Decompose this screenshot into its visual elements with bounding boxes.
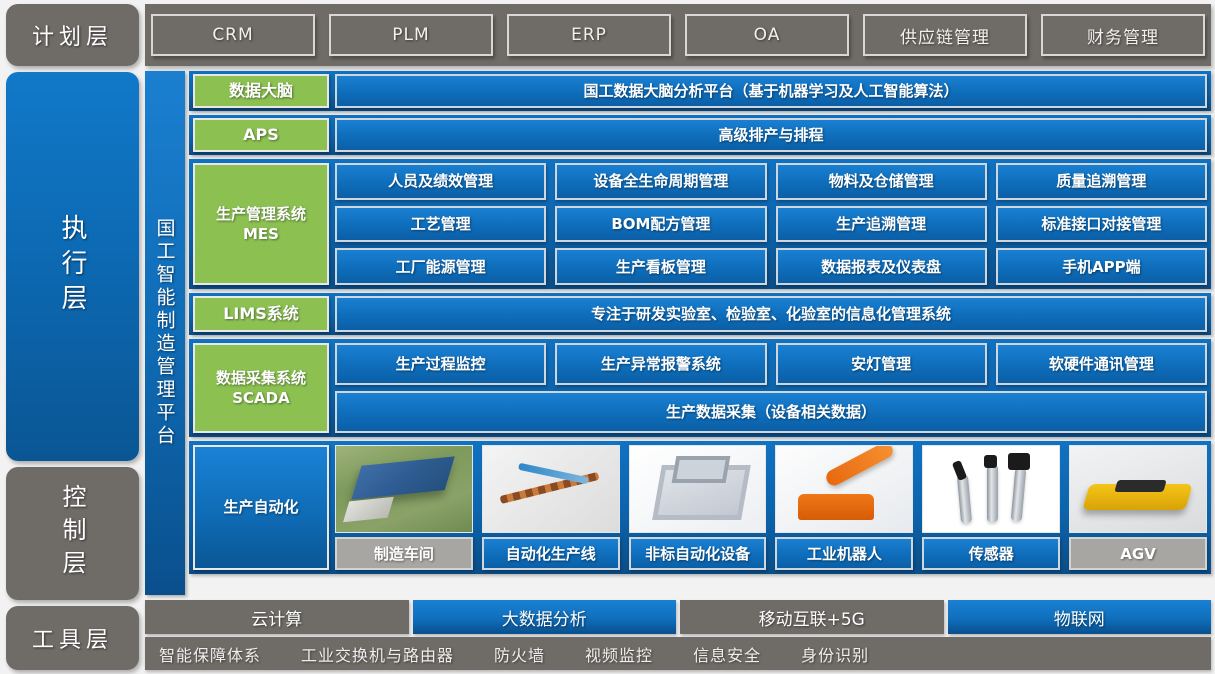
row-production-automation: 生产自动化 制造车间 自动化生产线 非标自动化 [189,441,1211,574]
scada-item-comm-management[interactable]: 软硬件通讯管理 [996,343,1207,385]
layer-label-tool[interactable]: 工具层 [6,606,139,670]
plan-item-label: 财务管理 [1087,23,1159,48]
caption-label: 传感器 [969,543,1014,564]
plan-item-oa[interactable]: OA [685,14,849,56]
tile-label: 生产自动化 [223,497,298,517]
tool-chip-row: 云计算 大数据分析 移动互联+5G 物联网 [145,600,1211,634]
footer-item-switch-router[interactable]: 工业交换机与路由器 [301,642,454,666]
plan-item-crm[interactable]: CRM [151,14,315,56]
button-label: 生产异常报警系统 [601,355,721,373]
tool-chip-iot[interactable]: 物联网 [948,600,1212,634]
card-caption: AGV [1069,537,1207,570]
thumbnail-industrial-robot [775,445,913,533]
thumbnail-workshop [335,445,473,533]
robot-arm-image [776,446,912,532]
tool-layer: 云计算 大数据分析 移动互联+5G 物联网 智能保障体系 工业交换机与路由器 防… [145,600,1211,670]
button-label: 物料及仓储管理 [829,172,934,190]
card-caption: 自动化生产线 [482,537,620,570]
conveyor-line-image [483,446,619,532]
plan-item-finance[interactable]: 财务管理 [1041,14,1205,56]
button-data-brain-platform[interactable]: 国工数据大脑分析平台（基于机器学习及人工智能算法） [335,74,1207,108]
platform-label: 国工智能制造管理平台 [145,71,185,595]
chip-label: 物联网 [1054,605,1105,630]
tile-mes[interactable]: 生产管理系统 MES [193,163,329,285]
tile-label: LIMS系统 [223,303,299,325]
button-lims-description[interactable]: 专注于研发实验室、检验室、化验室的信息化管理系统 [335,296,1207,332]
sensor-probes-image [923,446,1059,532]
layer-execution-text: 执行层 [54,214,91,319]
layer-label-plan[interactable]: 计划层 [6,4,139,66]
plan-item-label: OA [754,25,781,45]
plan-item-label: PLM [392,25,429,45]
tile-label-line1: 生产管理系统 [216,204,306,224]
row-mes: 生产管理系统 MES 人员及绩效管理 设备全生命周期管理 物料及仓储管理 质量追… [189,159,1211,289]
card-production-line[interactable]: 自动化生产线 [482,445,620,570]
mes-item-bom-recipe[interactable]: BOM配方管理 [555,206,766,243]
chip-label: 移动互联+5G [759,605,865,630]
button-label: 人员及绩效管理 [388,172,493,190]
tile-label-line1: 数据采集系统 [216,368,306,388]
tool-chip-mobile-5g[interactable]: 移动互联+5G [680,600,944,634]
tool-footer-row: 智能保障体系 工业交换机与路由器 防火墙 视频监控 信息安全 身份识别 [145,637,1211,670]
button-label: 工厂能源管理 [396,258,486,276]
row-scada: 数据采集系统 SCADA 生产过程监控 生产异常报警系统 安灯管理 软硬件通讯管… [189,339,1211,437]
tile-label: 数据大脑 [229,80,293,102]
platform-band: 国工智能制造管理平台 数据大脑 国工数据大脑分析平台（基于机器学习及人工智能算法… [145,71,1211,595]
button-label: BOM配方管理 [611,215,710,233]
layer-plan-text: 计划层 [32,19,113,51]
scada-row: 生产数据采集（设备相关数据） [335,391,1207,433]
footer-item-smart-assurance[interactable]: 智能保障体系 [159,642,261,666]
thumbnail-agv [1069,445,1207,533]
caption-label: AGV [1120,545,1156,563]
scada-item-data-acquisition[interactable]: 生产数据采集（设备相关数据） [335,391,1207,433]
tile-label-line2: SCADA [232,388,289,408]
card-workshop[interactable]: 制造车间 [335,445,473,570]
agv-vehicle-image [1070,446,1206,532]
main-column: CRM PLM ERP OA 供应链管理 财务管理 国工智能制造管理平台 数据大… [145,4,1211,670]
row-data-brain: 数据大脑 国工数据大脑分析平台（基于机器学习及人工智能算法） [189,71,1211,111]
mes-item-production-trace[interactable]: 生产追溯管理 [776,206,987,243]
footer-item-identity-recognition[interactable]: 身份识别 [801,642,869,666]
chip-label: 云计算 [251,605,302,630]
layer-label-execution[interactable]: 执行层 [6,72,139,461]
mes-item-data-report-dashboard[interactable]: 数据报表及仪表盘 [776,248,987,285]
plan-item-erp[interactable]: ERP [507,14,671,56]
factory-aerial-image [336,446,472,532]
layer-control-text: 控制层 [55,484,90,583]
mes-item-quality-trace[interactable]: 质量追溯管理 [996,163,1207,200]
tile-production-automation[interactable]: 生产自动化 [193,445,329,570]
button-label: 手机APP端 [1062,258,1141,276]
caption-label: 自动化生产线 [506,543,596,564]
mes-item-equipment-lifecycle[interactable]: 设备全生命周期管理 [555,163,766,200]
tile-lims[interactable]: LIMS系统 [193,296,329,332]
thumbnail-custom-equipment [629,445,767,533]
button-label: 设备全生命周期管理 [593,172,728,190]
caption-label: 非标自动化设备 [645,543,750,564]
button-aps-scheduling[interactable]: 高级排产与排程 [335,118,1207,152]
caption-label: 工业机器人 [807,543,882,564]
button-label: 软硬件通讯管理 [1049,355,1154,373]
mes-row: 工艺管理 BOM配方管理 生产追溯管理 标准接口对接管理 [335,206,1207,243]
platform-label-text: 国工智能制造管理平台 [152,218,179,448]
mes-item-mobile-app[interactable]: 手机APP端 [996,248,1207,285]
button-label: 专注于研发实验室、检验室、化验室的信息化管理系统 [591,305,951,323]
row-lims: LIMS系统 专注于研发实验室、检验室、化验室的信息化管理系统 [189,293,1211,335]
automation-cards: 制造车间 自动化生产线 非标自动化设备 工业机器人 [335,445,1207,570]
caption-label: 制造车间 [374,543,434,564]
button-label: 生产追溯管理 [836,215,926,233]
layer-column: 计划层 执行层 控制层 工具层 [6,4,139,670]
mes-item-personnel-performance[interactable]: 人员及绩效管理 [335,163,546,200]
tile-scada[interactable]: 数据采集系统 SCADA [193,343,329,433]
content-stack: 数据大脑 国工数据大脑分析平台（基于机器学习及人工智能算法） APS 高级排产与… [189,71,1211,595]
row-aps: APS 高级排产与排程 [189,115,1211,155]
plan-item-label: CRM [212,25,253,45]
mes-item-production-board[interactable]: 生产看板管理 [555,248,766,285]
button-label: 生产过程监控 [396,355,486,373]
mes-grid: 人员及绩效管理 设备全生命周期管理 物料及仓储管理 质量追溯管理 工艺管理 BO… [335,163,1207,285]
mes-item-standard-interface[interactable]: 标准接口对接管理 [996,206,1207,243]
thumbnail-sensor [922,445,1060,533]
button-label: 数据报表及仪表盘 [821,258,941,276]
mes-item-material-warehouse[interactable]: 物料及仓储管理 [776,163,987,200]
card-industrial-robot[interactable]: 工业机器人 [775,445,913,570]
card-sensor[interactable]: 传感器 [922,445,1060,570]
footer-item-video-surveillance[interactable]: 视频监控 [585,642,653,666]
scada-item-andon[interactable]: 安灯管理 [776,343,987,385]
footer-item-firewall[interactable]: 防火墙 [494,642,545,666]
card-caption: 制造车间 [335,537,473,570]
planning-bar: CRM PLM ERP OA 供应链管理 财务管理 [145,4,1211,66]
tile-label-line2: MES [243,224,279,244]
mes-item-process-management[interactable]: 工艺管理 [335,206,546,243]
mes-row: 人员及绩效管理 设备全生命周期管理 物料及仓储管理 质量追溯管理 [335,163,1207,200]
mes-row: 工厂能源管理 生产看板管理 数据报表及仪表盘 手机APP端 [335,248,1207,285]
button-label: 国工数据大脑分析平台（基于机器学习及人工智能算法） [583,82,958,100]
layer-tool-text: 工具层 [32,622,113,654]
footer-item-information-security[interactable]: 信息安全 [693,642,761,666]
scada-row: 生产过程监控 生产异常报警系统 安灯管理 软硬件通讯管理 [335,343,1207,385]
button-label: 工艺管理 [411,215,471,233]
tool-chip-cloud-computing[interactable]: 云计算 [145,600,409,634]
tool-chip-big-data[interactable]: 大数据分析 [413,600,677,634]
scada-grid: 生产过程监控 生产异常报警系统 安灯管理 软硬件通讯管理 生产数据采集（设备相关… [335,343,1207,433]
button-label: 安灯管理 [851,355,911,373]
plan-item-supply-chain[interactable]: 供应链管理 [863,14,1027,56]
plan-item-label: ERP [571,25,607,45]
layer-label-control[interactable]: 控制层 [6,467,139,600]
diagram-root: 计划层 执行层 控制层 工具层 CRM PLM ERP OA 供应链管理 财务管… [0,0,1215,674]
cad-machine-image [630,446,766,532]
card-custom-equipment[interactable]: 非标自动化设备 [629,445,767,570]
mes-item-factory-energy[interactable]: 工厂能源管理 [335,248,546,285]
plan-item-plm[interactable]: PLM [329,14,493,56]
card-caption: 非标自动化设备 [629,537,767,570]
button-label: 高级排产与排程 [718,126,823,144]
scada-item-process-monitoring[interactable]: 生产过程监控 [335,343,546,385]
button-label: 生产看板管理 [616,258,706,276]
scada-item-abnormal-alarm[interactable]: 生产异常报警系统 [555,343,766,385]
tile-aps[interactable]: APS [193,118,329,152]
button-label: 生产数据采集（设备相关数据） [666,403,876,421]
button-label: 质量追溯管理 [1056,172,1146,190]
plan-item-label: 供应链管理 [900,23,990,48]
card-caption: 工业机器人 [775,537,913,570]
button-label: 标准接口对接管理 [1041,215,1161,233]
thumbnail-production-line [482,445,620,533]
chip-label: 大数据分析 [502,605,587,630]
card-agv[interactable]: AGV [1069,445,1207,570]
tile-label: APS [243,124,279,146]
tile-data-brain[interactable]: 数据大脑 [193,74,329,108]
card-caption: 传感器 [922,537,1060,570]
